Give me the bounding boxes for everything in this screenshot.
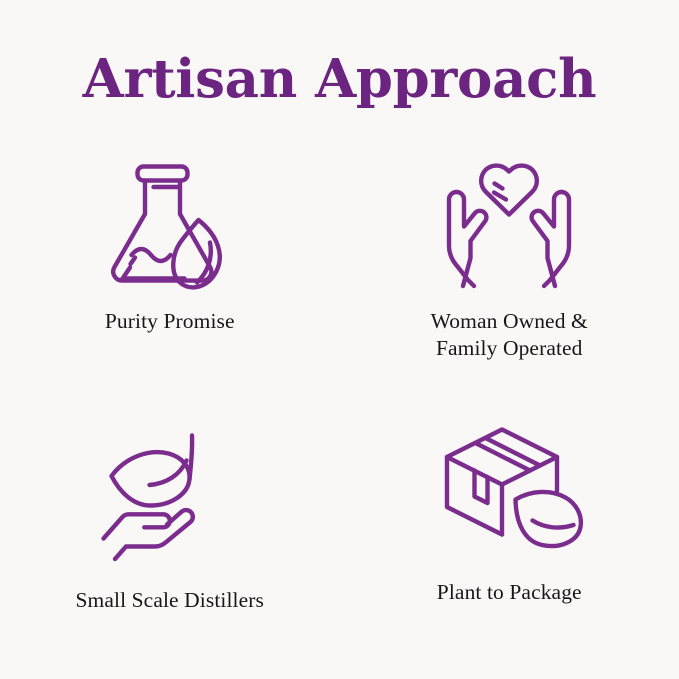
- feature-label: Purity Promise: [105, 308, 235, 335]
- flask-leaf-icon: [98, 154, 248, 294]
- feature-item-purity-promise: Purity Promise: [0, 150, 340, 405]
- page-title: Artisan Approach: [0, 48, 679, 110]
- feature-item-small-scale-distillers: Small Scale Distillers: [0, 405, 340, 660]
- hands-heart-icon: [434, 156, 584, 296]
- feature-item-woman-owned: Woman Owned & Family Operated: [340, 150, 679, 405]
- hand-leaf-icon: [93, 425, 243, 565]
- feature-item-plant-to-package: Plant to Package: [340, 405, 679, 660]
- feature-label: Woman Owned & Family Operated: [431, 308, 588, 362]
- feature-label: Small Scale Distillers: [75, 587, 264, 614]
- feature-label: Plant to Package: [437, 579, 582, 606]
- feature-grid: Purity Promise Woman Owne: [0, 150, 679, 660]
- artisan-approach-panel: Artisan Approach: [0, 0, 679, 679]
- box-leaf-icon: [436, 419, 586, 559]
